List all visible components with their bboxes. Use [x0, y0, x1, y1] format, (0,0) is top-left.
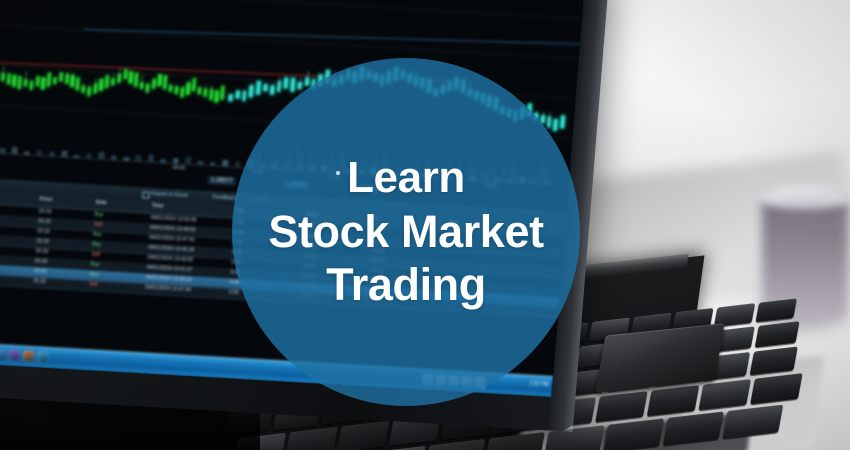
- grid-column-header[interactable]: Price: [40, 196, 53, 203]
- keyboard-key[interactable]: [723, 405, 784, 439]
- keyboard-key[interactable]: [603, 418, 664, 450]
- grid-cell-side: Buy: [90, 271, 99, 277]
- grid-column-header[interactable]: Time: [151, 203, 163, 210]
- grid-cell-time: 04/01/2024 13:49:55: [150, 225, 196, 234]
- feedback-link[interactable]: Feedback: [212, 194, 236, 201]
- music-icon[interactable]: [23, 351, 35, 363]
- grid-cell-qty: 0.00: [229, 289, 239, 296]
- keyboard-key[interactable]: [337, 421, 389, 450]
- tray-clock[interactable]: 1:52 PM: [530, 381, 549, 388]
- export-to-excel-link[interactable]: Export to Excel: [151, 191, 188, 199]
- keyboard-key[interactable]: [663, 411, 724, 445]
- keyboard-key[interactable]: [755, 321, 800, 347]
- grid-cell-price: 20.33: [39, 208, 52, 215]
- grid-cell-price: 20.33: [35, 248, 48, 255]
- grid-cell-time: 04/01/2024 13:52:06: [150, 215, 196, 224]
- overlay-line-3: Trading: [326, 262, 486, 309]
- photo-icon[interactable]: [9, 350, 21, 362]
- overlay-line-2: Stock Market: [268, 209, 543, 256]
- keyboard-key[interactable]: [699, 379, 751, 410]
- grid-cell-side: Sell: [91, 251, 100, 257]
- keyboard-key[interactable]: [750, 373, 802, 404]
- grid-cell-price: 20.33: [33, 278, 46, 285]
- chrome-icon[interactable]: [0, 349, 7, 361]
- grid-cell-price: 20.33: [34, 268, 47, 275]
- grid-cell-time: 04/01/2024 13:47:41: [149, 235, 195, 244]
- grid-cell-side: Buy: [93, 232, 102, 238]
- grid-cell-price: 20.33: [37, 228, 50, 235]
- grid-cell-side: Buy: [90, 261, 99, 267]
- screenshot-canvas: GBPUSD M5 ✛ ✛ ╱ ⌁ 1.28579 1.28596 ⌐ ⚙ Ch…: [0, 0, 850, 450]
- keyboard-key[interactable]: [756, 298, 797, 322]
- grid-cell-price: 20.33: [38, 218, 51, 225]
- grid-cell-side: Sell: [89, 281, 98, 287]
- overlay-text-block: Learn Stock Market Trading: [232, 58, 580, 406]
- grid-cell-time: 04/01/2024 13:37:44: [145, 285, 191, 294]
- keyboard-key[interactable]: [595, 391, 647, 422]
- grid-cell-side: Sell: [94, 222, 103, 228]
- grid-cell-time: 04/01/2024 13:45:18: [148, 245, 194, 254]
- time-axis-label: 09:00: [172, 165, 185, 172]
- grid-cell-price: 20.33: [35, 258, 48, 265]
- grid-cell-side: Buy: [92, 241, 101, 247]
- grid-cell-side: Buy: [94, 212, 103, 218]
- overlay-line-1: Learn: [347, 155, 465, 201]
- grid-cell-price: 20.33: [36, 238, 49, 245]
- keyboard-key[interactable]: [285, 427, 337, 450]
- calc-icon[interactable]: [37, 351, 49, 363]
- grid-cell-time: 04/01/2024 13:39:10: [146, 275, 192, 284]
- trend-line: [84, 29, 588, 46]
- keyboard-key[interactable]: [647, 385, 699, 416]
- keyboard-key[interactable]: [484, 432, 545, 450]
- grid-cell-time: 04/01/2024 13:43:02: [147, 255, 193, 264]
- export-checkbox[interactable]: [142, 191, 150, 198]
- coffee-mug-rim: [758, 186, 850, 210]
- price-quote-label: 1.28577: [208, 176, 236, 186]
- grid-cell-time: 04/01/2024 13:41:37: [146, 265, 192, 274]
- grid-column-header[interactable]: Side: [95, 200, 106, 207]
- gridline: [0, 0, 582, 19]
- keyboard-key[interactable]: [750, 347, 798, 376]
